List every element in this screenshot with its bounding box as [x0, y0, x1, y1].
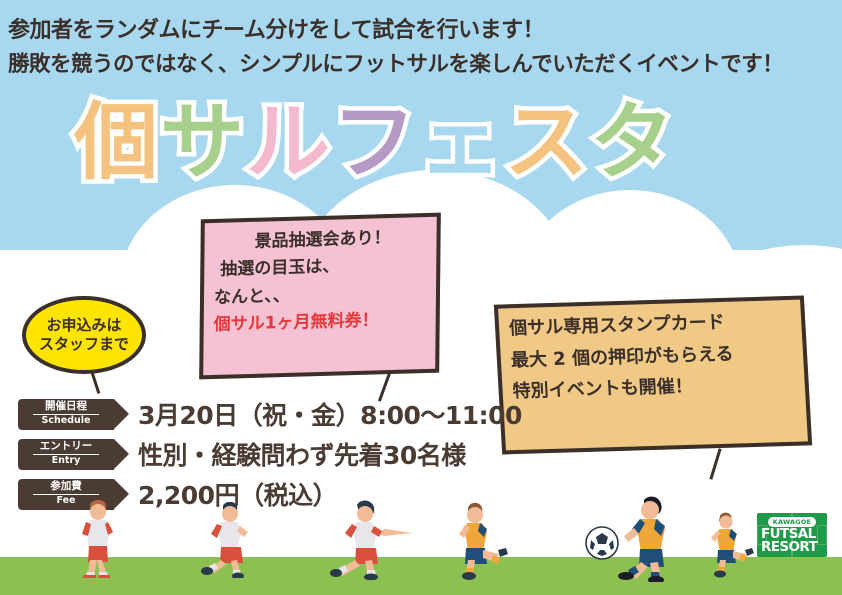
logo-kawagoe-badge: KAWAGOE: [768, 517, 816, 527]
prize-line-4-highlight: 個サル1ヶ月無料券！: [214, 309, 430, 336]
title-char-2: サ: [160, 100, 246, 184]
stamp-callout-text: 個サル専用スタンプカード 最大 2 個の押印がもらえる 特別イベントも開催！: [494, 296, 812, 455]
prize-line-2: 抽選の目玉は、: [214, 254, 430, 281]
poster: 参加者をランダムにチーム分けをして試合を行います！ 勝敗を競うのではなく、シンプ…: [0, 0, 842, 595]
player-figure-red-3: [330, 500, 420, 580]
detail-value-entry: 性別・経験問わず先着30名様: [138, 436, 466, 472]
player-figure-orange-kicker: [604, 496, 714, 582]
detail-value-schedule: 3月20日（祝・金）8:00〜11:00: [138, 396, 522, 432]
stamp-line-3: 特別イベントも開催！: [512, 373, 809, 403]
logo-pitch-line: [817, 525, 827, 545]
prize-line-1: 景品抽選会あり！: [214, 227, 430, 254]
stamp-line-1: 個サル専用スタンプカード: [509, 309, 806, 339]
tag-fee-jp: 参加費: [50, 481, 82, 493]
stamp-card-callout: 個サル専用スタンプカード 最大 2 個の押印がもらえる 特別イベントも開催！: [498, 300, 808, 450]
application-badge: お申込みは スタッフまで: [22, 296, 146, 374]
event-details: 開催日程 Schedule 3月20日（祝・金）8:00〜11:00 エントリー…: [18, 394, 522, 514]
player-figure-red-2: [195, 502, 265, 578]
badge-line-2: スタッフまで: [39, 335, 129, 354]
header-line-1: 参加者をランダムにチーム分けをして試合を行います！: [8, 14, 836, 48]
title-char-5: ェ: [418, 100, 504, 184]
title-char-6: ス: [504, 100, 590, 184]
header-line-2: 勝敗を競うのではなく、シンプルにフットサルを楽しんでいただくイベントです！: [8, 48, 836, 81]
title-char-7: タ: [590, 100, 676, 184]
futsal-resort-logo: KAWAGOE FUTSAL RESORT: [757, 513, 827, 557]
player-figure-red-1: [68, 500, 128, 578]
tag-schedule: 開催日程 Schedule: [18, 399, 114, 430]
tag-schedule-jp: 開催日程: [45, 401, 87, 413]
tag-schedule-en: Schedule: [42, 416, 91, 426]
prize-callout-text: 景品抽選会あり！ 抽選の目玉は、 なんと、、 個サル1ヶ月無料券！: [199, 213, 441, 380]
title-char-1: 個: [74, 100, 160, 184]
stamp-line-2: 最大 2 個の押印がもらえる: [510, 341, 807, 371]
tag-entry: エントリー Entry: [18, 439, 114, 470]
page-title: 個サルフェスタ: [74, 100, 676, 184]
title-char-3: ル: [246, 100, 332, 184]
title-char-4: フ: [332, 100, 418, 184]
logo-word-resort: RESORT: [761, 541, 817, 555]
player-figure-orange-1: [448, 502, 528, 580]
detail-row-entry: エントリー Entry 性別・経験問わず先着30名様: [18, 434, 522, 474]
tag-entry-en: Entry: [52, 456, 81, 466]
prize-lottery-callout: 景品抽選会あり！ 抽選の目玉は、 なんと、、 個サル1ヶ月無料券！: [200, 216, 440, 376]
detail-row-schedule: 開催日程 Schedule 3月20日（祝・金）8:00〜11:00: [18, 394, 522, 434]
tag-entry-jp: エントリー: [40, 441, 93, 453]
badge-line-1: お申込みは: [46, 316, 121, 335]
prize-line-3: なんと、、: [214, 281, 430, 308]
header-text: 参加者をランダムにチーム分けをして試合を行います！ 勝敗を競うのではなく、シンプ…: [8, 14, 836, 81]
